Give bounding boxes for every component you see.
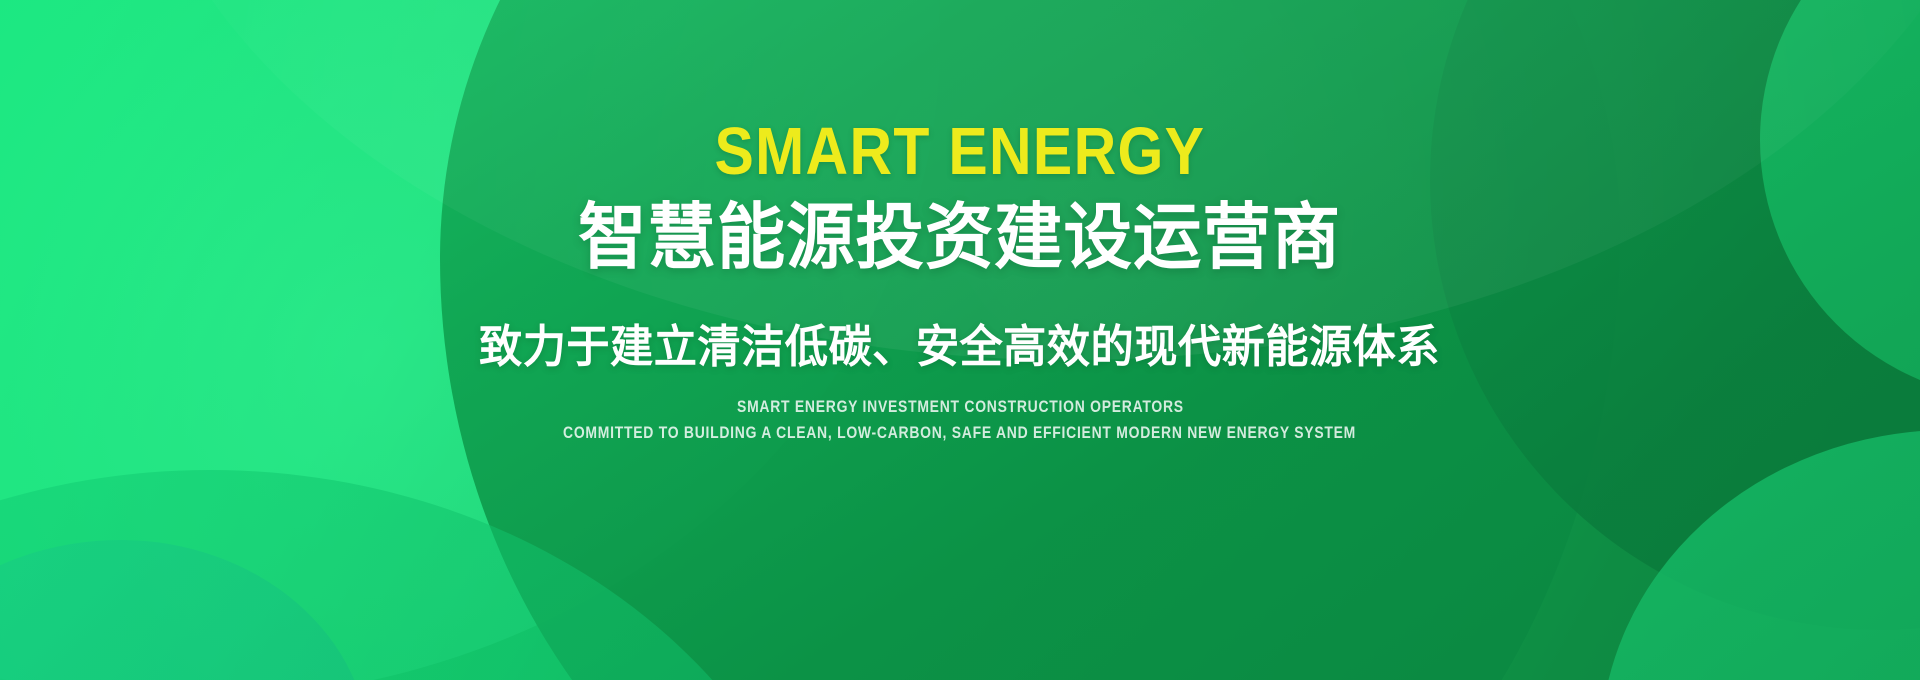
- tagline-line-1: SMART ENERGY INVESTMENT CONSTRUCTION OPE…: [737, 398, 1184, 417]
- hero-banner: SMART ENERGY 智慧能源投资建设运营商 致力于建立清洁低碳、安全高效的…: [0, 0, 1920, 680]
- tagline-group: SMART ENERGY INVESTMENT CONSTRUCTION OPE…: [476, 398, 1443, 442]
- banner-content: SMART ENERGY 智慧能源投资建设运营商 致力于建立清洁低碳、安全高效的…: [0, 0, 1920, 680]
- headline-english: SMART ENERGY: [715, 118, 1206, 185]
- headline-chinese: 智慧能源投资建设运营商: [579, 201, 1342, 277]
- tagline-line-2: COMMITTED TO BUILDING A CLEAN, LOW-CARBO…: [564, 424, 1357, 443]
- subheadline-chinese: 致力于建立清洁低碳、安全高效的现代新能源体系: [480, 321, 1441, 373]
